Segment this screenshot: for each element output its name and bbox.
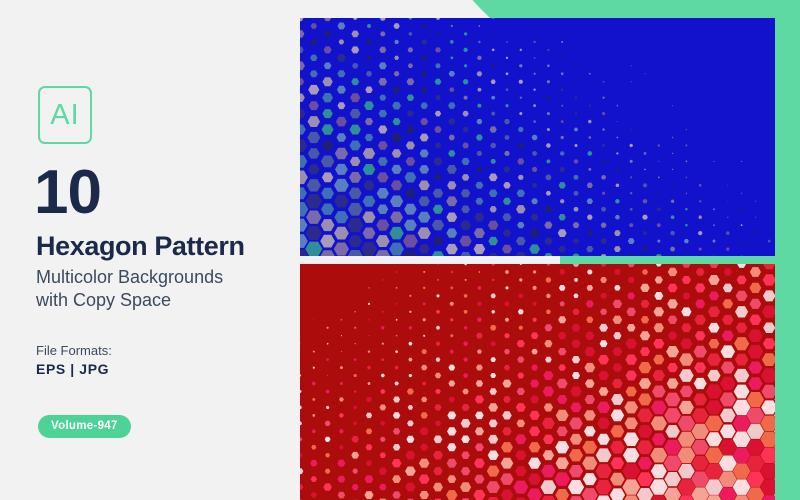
preview-panel-red[interactable] bbox=[300, 264, 775, 500]
poster-canvas: AI 10 Hexagon Pattern Multicolor Backgro… bbox=[0, 0, 800, 500]
page-title: Hexagon Pattern bbox=[36, 233, 245, 260]
blue-hexagon-svg bbox=[300, 18, 775, 256]
file-formats-value: EPS | JPG bbox=[36, 361, 109, 377]
page-subtitle: Multicolor Backgroundswith Copy Space bbox=[36, 266, 286, 312]
item-count: 10 bbox=[34, 162, 101, 224]
info-column: AI 10 Hexagon Pattern Multicolor Backgro… bbox=[0, 0, 300, 500]
ai-format-badge: AI bbox=[38, 86, 92, 144]
preview-panel-blue[interactable] bbox=[300, 18, 775, 256]
ai-format-badge-label: AI bbox=[50, 99, 79, 132]
volume-badge: Volume-947 bbox=[38, 415, 131, 438]
file-formats-label: File Formats: bbox=[36, 343, 112, 358]
red-hexagon-svg bbox=[300, 264, 775, 500]
